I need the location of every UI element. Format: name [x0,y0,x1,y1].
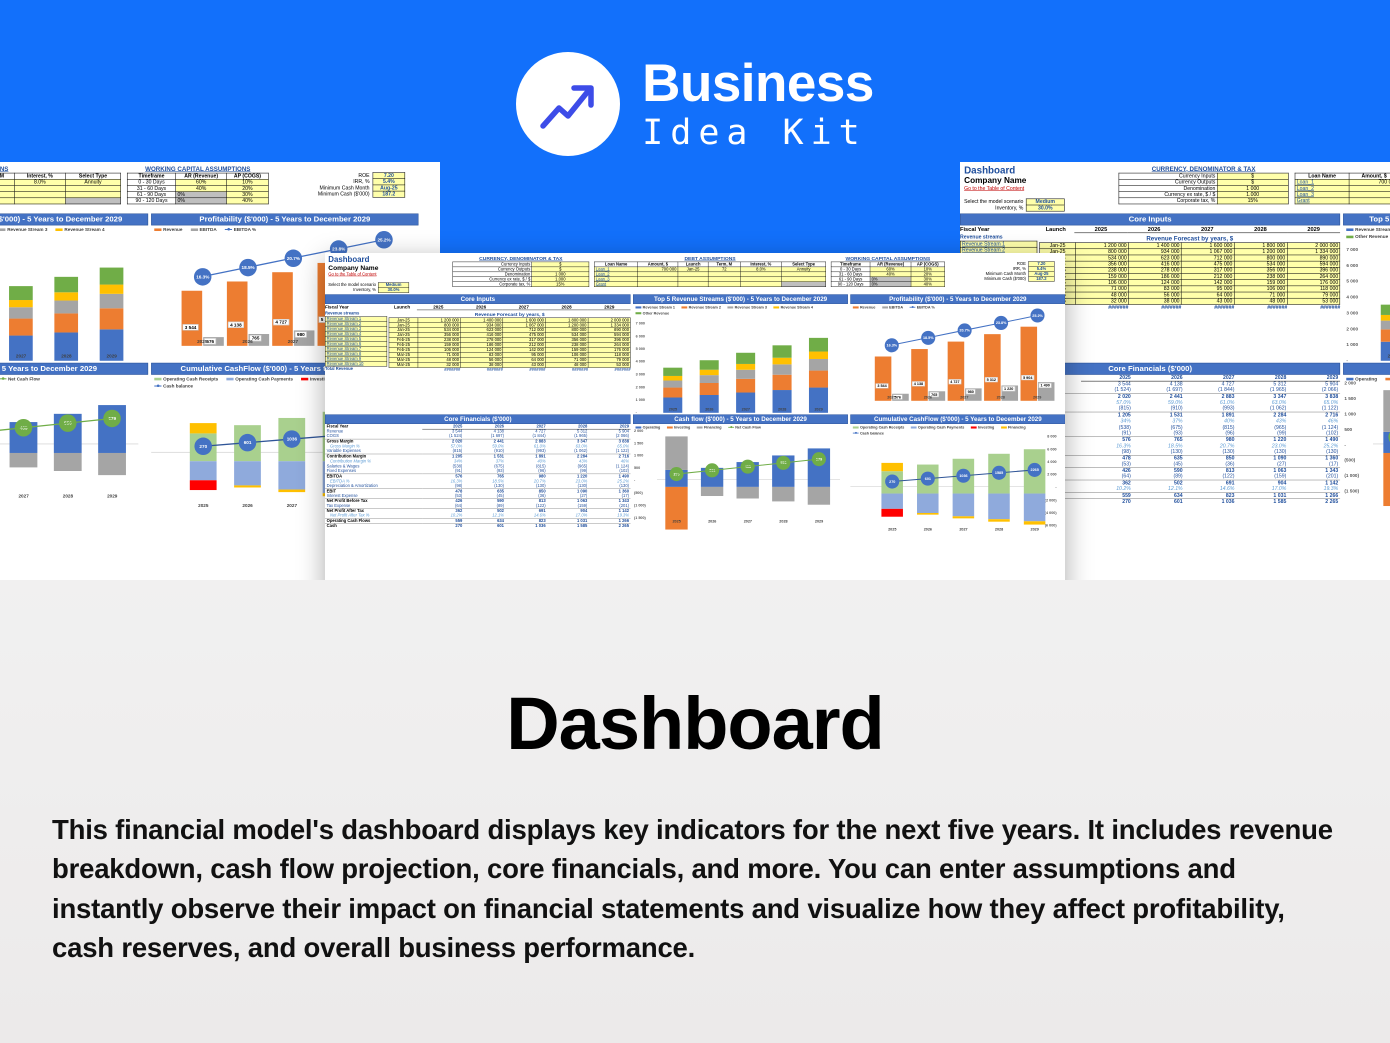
table-row: Grant [594,282,825,287]
x-axis-label: 2029 [1018,395,1056,399]
table-row: Mar-25 32 00038 00043 00048 00053 000 [1040,298,1340,304]
kpi-row: Minimum Cash ($'000) 187.2 [273,191,405,197]
legend-item: Operating Cash Payments [226,376,292,381]
bar-value-label: 5 312 [985,377,998,382]
y-axis-tick: 4 000 [636,359,645,363]
chart-cash-flow: Cash flow ($'000) - 5 Years to December … [0,363,148,501]
inventory-input[interactable]: 30.0% [1026,205,1064,211]
legend-item: Other Revenue [1346,234,1388,239]
cash-balance-bubble: 601 [921,472,935,486]
brand-logo: Business Idea Kit [0,48,1390,160]
forecast-title: Revenue Forecast by years, $ [1039,235,1340,242]
bar-revenue [227,281,248,346]
legend-label: Operating Cash Payments [235,376,293,381]
bar-value-label: 980 [966,389,976,394]
spreadsheet-main[interactable]: Dashboard Company Name Go to the Table o… [325,253,1065,580]
working-capital-table[interactable]: TimeframeAR (Revenue)AP (COGS) 0 - 30 Da… [831,262,945,287]
x-axis-label: 2025 [179,339,226,344]
y-axis-tick: 3 000 [636,372,645,376]
legend-label: Revenue Stream 3 [7,227,47,232]
bar-segment [100,267,124,284]
legend-item: Other Revenue [636,311,670,315]
x-axis-label: 2027 [733,407,759,411]
chart-title: Profitability ($'000) - 5 Years to Decem… [151,214,418,226]
x-axis-label: 2028 [770,519,797,523]
bar-segment [9,319,33,336]
legend-label: Investing [978,425,994,429]
company-name: Company Name [328,265,448,272]
bar-segment [773,375,792,390]
chart-legend: Revenue Stream 1 Revenue Stream 2 Revenu… [0,225,148,240]
bar-revenue [1021,327,1038,401]
bar-segment [773,358,792,365]
ebitda-pct-bubble: 23.8% [994,316,1008,330]
legend-label: Revenue Stream 4 [781,305,813,309]
legend-item: Revenue [853,305,876,309]
table-of-content-link[interactable]: Go to the Table of Content [328,272,448,277]
bar-value-label: 4 138 [912,381,925,386]
core-inputs-title: Core Inputs [960,214,1340,226]
legend-label: Revenue Stream 1 [643,305,675,309]
chart-cash-flow: Cash flow ($'000) - 5 Years to December … [633,414,848,525]
page-description: This financial model's dashboard display… [52,810,1338,967]
legend-label: Revenue Stream 1 [1355,227,1390,232]
chart-title: Cash flow ($'000) - 5 Years to December … [0,363,148,375]
x-axis-label: 2029 [805,519,832,523]
chart-profitability: Profitability ($'000) - 5 Years to Decem… [850,294,1065,400]
legend-label: EBITDA % [917,305,935,309]
chart-revenue-streams: Top 5 Revenue Streams ($'000) - 5 Years … [0,214,148,361]
bar-value-label: 3 544 [876,383,889,388]
bar-segment [736,370,755,379]
ebitda-pct-bubble: 16.3% [885,338,899,352]
chart-cash-flow: Cash flow ($'000) - 5 Years to December … [1343,363,1390,501]
y-axis-tick: 1 000 [636,398,645,402]
inventory-input[interactable]: 30.0% [378,288,409,293]
legend-item: Investing [667,425,690,429]
legend-item: Financing [697,425,722,429]
y-axis-tick: 7 000 [636,321,645,325]
chart-legend: Operating Cash Receipts Operating Cash P… [850,424,1065,436]
bar-segment [773,364,792,374]
bar-segment [700,383,719,395]
hero-blue-banner: Dashboard Company Name Go to the Table o… [0,0,1390,580]
bar-segment [100,308,124,329]
bar-revenue [272,272,293,346]
legend-item: Revenue Stream 3 [0,227,47,232]
x-axis-label: 2029 [95,493,129,498]
y-axis-tick: 1 000 [1346,342,1358,347]
legend-item: Revenue [154,227,182,232]
legend-label: Revenue Stream 3 [735,305,767,309]
legend-label: Revenue Stream 4 [64,227,104,232]
x-axis-label: 2026 [697,407,723,411]
bar-segment [1381,329,1390,342]
x-axis-label: 2025 [872,395,910,399]
bar-segment [9,286,33,300]
table-row: Corporate tax, %15% [1119,198,1288,204]
bar-segment [663,387,682,397]
table-row: 90 - 120 Days 0% 40% [831,282,944,287]
bar-revenue [948,341,965,400]
bar-segment [55,277,79,292]
y-axis-tick: - [636,410,637,414]
net-cash-flow-line [633,431,840,518]
cash-balance-bubble: 270 [885,474,899,488]
ebitda-pct-bubble: 20.7% [958,323,972,337]
chart-title: Top 5 Revenue Streams ($'000) - 5 Years … [633,294,848,304]
cash-balance-bubble: 601 [239,434,257,452]
bar-segment [700,370,719,375]
y-axis-tick: 3 000 [1346,310,1358,315]
legend-item: Revenue Stream 2 [682,305,721,309]
x-axis-label: 2027 [734,519,761,523]
legend-item: EBITDA [191,227,217,232]
bar-segment [100,294,124,308]
revenue-forecast-table[interactable]: Jan-25 1 200 0001 400 0001 600 0001 800 … [1039,242,1340,304]
y-axis-tick: 5 000 [636,347,645,351]
legend-item: Cash balance [853,431,884,435]
ebitda-pct-bubble: 20.7% [285,249,303,267]
chart-title: Top 5 Revenue Streams ($'000) - 5 Years … [1343,214,1390,226]
x-axis-label: 2026 [909,395,947,399]
debt-panel-title: DEBT ASSUMPTIONS [594,255,826,261]
ebitda-pct-bubble: 18.5% [239,259,257,277]
bar-value-label: 4 727 [273,319,289,325]
bar-segment [809,359,828,370]
working-capital-title: WORKING CAPITAL ASSUMPTIONS [127,165,269,172]
bar-value-label: 4 727 [949,379,962,384]
bar-segment [663,376,682,381]
status-badge: 187.2 [373,191,405,197]
x-axis-label: 2028 [769,407,795,411]
bar-value-label: 5 904 [1021,375,1034,380]
bar-segment [55,313,79,332]
x-axis-label: 2027 [945,395,983,399]
x-axis-label: 2026 [224,339,271,344]
ebitda-pct-bubble: 16.3% [194,268,212,286]
legend-label: Revenue [860,305,876,309]
core-inputs-title: Core Inputs [325,294,631,304]
kpi-row: Minimum Cash ($'000) 187.2 [948,276,1054,281]
legend-label: Cash balance [860,431,884,435]
legend-item: Operating Cash Receipts [853,425,904,429]
y-axis-tick: - [1346,358,1348,363]
chart-legend: Operating Investing Financing Net Cash F… [0,375,148,383]
bar-value-label: 4 138 [228,322,244,328]
legend-item: Net Cash Flow [0,376,40,381]
debt-assumptions-table[interactable]: Loan NameAmount, $LaunchTerm, MInterest,… [594,262,826,287]
bar-segment [9,307,33,318]
legend-item: EBITDA % [910,305,935,309]
x-axis-label: 2027 [275,503,308,508]
debt-panel-title: DEBT ASSUMPTIONS [1295,165,1390,172]
chart-revenue-streams: Top 5 Revenue Streams ($'000) - 5 Years … [1343,214,1390,361]
y-axis-tick: 6 000 [636,334,645,338]
bar-segment [1381,321,1390,329]
bar-segment [736,353,755,364]
bar-segment [773,345,792,357]
bar-segment [809,352,828,360]
ebitda-pct-bubble: 25.2% [375,231,393,249]
legend-label: Operating [1355,376,1377,381]
working-capital-table[interactable]: TimeframeAR (Revenue)AP (COGS) 0 - 30 Da… [127,173,269,204]
legend-label: Other Revenue [643,311,670,315]
table-row: Revenue Stream 10 [325,361,387,366]
legend-label: EBITDA [199,227,216,232]
legend-item: Cash balance [154,383,193,388]
cash-balance-line [850,436,1057,525]
legend-item: Revenue Stream 1 [636,305,675,309]
legend-item: Revenue Stream 3 [728,305,767,309]
x-axis-label: 2025 [879,527,905,531]
legend-item: Operating Cash Receipts [154,376,218,381]
ebitda-pct-bubble: 18.5% [921,331,935,345]
legend-item: EBITDA % [225,227,256,232]
growth-arrow-icon [516,52,620,156]
legend-label: EBITDA [889,305,903,309]
x-axis-label: 2025 [1380,493,1390,498]
bar-segment [55,301,79,314]
currency-panel-title: CURRENCY, DENOMINATOR & TAX [453,255,590,261]
bar-segment [55,292,79,300]
caption-section: Dashboard This financial model's dashboa… [0,585,1390,967]
chart-revenue-streams: Top 5 Revenue Streams ($'000) - 5 Years … [633,294,848,412]
chart-cumulative-cashflow: Cumulative CashFlow ($'000) - 5 Years to… [850,414,1065,532]
cash-balance-bubble: 1036 [956,469,970,483]
bar-segment [100,285,124,294]
brand-title: Business [642,57,874,110]
legend-item: Investing [1385,376,1390,381]
y-axis-tick: 5 000 [1346,279,1358,284]
x-axis-label: 2028 [50,354,82,359]
net-cash-flow-line [0,383,138,491]
bar-segment [809,370,828,387]
y-axis-tick: 6 000 [1346,263,1358,268]
bar-segment [663,381,682,388]
legend-label: Revenue [163,227,182,232]
bar-segment [9,300,33,308]
table-row: Grant [0,198,121,204]
cash-balance-bubble: 1036 [283,430,301,448]
bar-segment [736,364,755,370]
x-axis-label: 2028 [51,493,85,498]
x-axis-label: 2028 [982,395,1020,399]
bar-value-label: 1 220 [1002,386,1015,391]
legend-label: Operating [643,425,661,429]
currency-panel-title: CURRENCY, DENOMINATOR & TAX [1119,165,1289,172]
debt-assumptions-table[interactable]: Loan NameAmount, $LaunchTerm, MInterest,… [1295,173,1390,204]
legend-label: Operating Cash Receipts [860,425,904,429]
core-financials-table[interactable]: Fiscal Year 20252026202720282029 Revenue… [325,424,631,528]
table-row: 90 - 120 Days 0% 40% [127,198,268,204]
currency-table[interactable]: Currency Inputs$ Currency Outputs$ Denom… [1119,173,1289,204]
legend-item: Operating Cash Payments [911,425,964,429]
core-financials-title: Core Financials ($'000) [325,414,631,424]
company-name: Company Name [964,176,1113,185]
chart-title: Top 5 Revenue Streams ($'000) - 5 Years … [0,214,148,226]
x-axis-label: 2025 [1377,354,1390,359]
x-axis-label: 2027 [5,354,37,359]
chart-title: Cash flow ($'000) - 5 Years to December … [633,414,848,424]
debt-panel-title: DEBT ASSUMPTIONS [0,165,121,172]
bar-revenue [984,334,1001,401]
chart-title: Cash flow ($'000) - 5 Years to December … [1343,363,1390,375]
bar-segment [1381,305,1390,315]
x-axis-label: 2027 [269,339,316,344]
table-row: Cash 2706011 0361 5852 265 [325,523,631,528]
page-title: Dashboard [0,681,1390,766]
brand-subtitle: Idea Kit [642,116,874,151]
legend-item: EBITDA [882,305,903,309]
legend-label: Financing [704,425,722,429]
legend-label: Other Revenue [1355,234,1388,239]
bar-revenue [911,349,928,401]
currency-table[interactable]: Currency Inputs$ Currency Outputs$ Denom… [453,262,590,287]
net-cash-flow-line [1343,383,1390,491]
cash-balance-bubble: 2265 [1028,463,1042,477]
legend-label: Net Cash Flow [8,376,40,381]
chart-title: Cumulative CashFlow ($'000) - 5 Years to… [850,414,1065,424]
working-capital-title: WORKING CAPITAL ASSUMPTIONS [831,255,945,261]
x-axis-label: 2028 [986,527,1012,531]
x-axis-label: 2027 [7,493,41,498]
bar-segment [700,360,719,370]
debt-assumptions-table[interactable]: Loan NameAmount, $LaunchTerm, MInterest,… [0,173,121,204]
bar-revenue [182,291,203,346]
legend-label: Operating Cash Payments [918,425,964,429]
legend-item: Financing [1001,425,1026,429]
legend-item: Revenue Stream 1 [1346,227,1390,232]
chart-title: Profitability ($'000) - 5 Years to Decem… [850,294,1065,304]
bar-segment [736,379,755,393]
legend-label: EBITDA % [234,227,256,232]
x-axis-label: 2026 [915,527,941,531]
y-axis-tick: 4 000 [1346,294,1358,299]
cash-balance-bubble: 1585 [992,466,1006,480]
revenue-forecast-table[interactable]: Jan-25 1 200 0001 400 0001 600 0001 800 … [389,318,631,368]
x-axis-label: 2026 [699,519,726,523]
x-axis-label: 2027 [950,527,976,531]
y-axis-tick: 7 000 [1346,247,1358,252]
legend-item: Revenue Stream 4 [774,305,813,309]
table-row: 0 - 30 Days 60% 10% [127,179,268,185]
dashboard-heading: Dashboard [328,255,448,264]
legend-item: Net Cash Flow [728,425,761,429]
y-axis-tick: 2 000 [636,385,645,389]
legend-label: Operating Cash Receipts [163,376,218,381]
x-axis-label: 2029 [1021,527,1047,531]
table-row: Corporate tax, %15% [453,282,589,287]
legend-label: Revenue Stream 2 [689,305,721,309]
ebitda-pct-bubble: 25.2% [1031,309,1045,323]
legend-label: Net Cash Flow [735,425,761,429]
table-of-content-link[interactable]: Go to the Table of Content [964,186,1113,192]
bar-value-label: 980 [295,332,307,338]
bar-segment [1381,315,1390,321]
legend-label: Financing [1008,425,1026,429]
x-axis-label: 2025 [187,503,220,508]
x-axis-label: 2029 [806,407,832,411]
status-badge: 187.2 [1029,276,1055,281]
chart-legend: Revenue Stream 1 Revenue Stream 2 Revenu… [633,304,848,316]
bar-value-label: 1 490 [1039,383,1052,388]
dashboard-heading: Dashboard [964,165,1113,176]
cash-balance-bubble: 270 [195,438,213,456]
table-row: Grant [1295,198,1390,204]
x-axis-label: 2025 [660,407,686,411]
kpi-table: ROE 7.20 IRR, % 5.4% Minimum Cash Month … [273,172,405,197]
legend-item: Investing [971,425,994,429]
y-axis-tick: 2 000 [1346,326,1358,331]
bar-segment [663,368,682,376]
legend-label: Investing [674,425,690,429]
bar-segment [700,375,719,383]
kpi-table: ROE 7.20 IRR, % 5.4% Minimum Cash Month … [948,261,1054,281]
x-axis-label: 2025 [663,519,690,523]
bar-segment [809,338,828,352]
bar-value-label: 3 544 [183,324,199,330]
legend-label: Cash balance [163,383,193,388]
x-axis-label: 2026 [231,503,264,508]
table-row: 31 - 60 Days 40% 20% [127,185,268,191]
legend-item: Revenue Stream 4 [56,227,105,232]
forecast-title: Revenue Forecast by years, $ [389,311,631,317]
chart-legend: Revenue Stream 1 Revenue Stream 2 Revenu… [1343,225,1390,240]
x-axis-label: 2029 [96,354,128,359]
revenue-stream-names[interactable]: Revenue Stream 1Revenue Stream 2Revenue … [325,316,387,366]
